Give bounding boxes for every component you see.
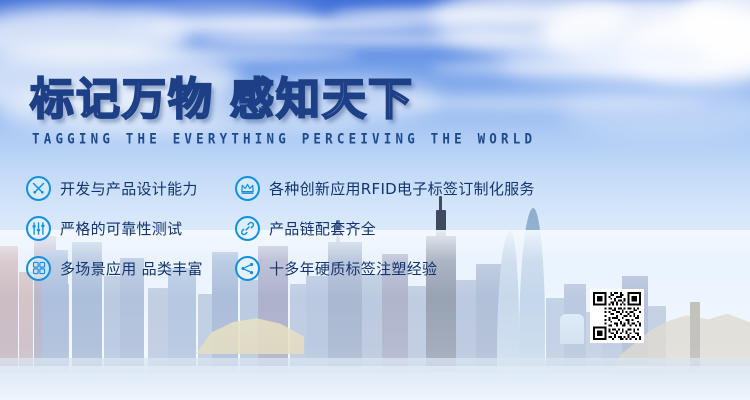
crown-icon xyxy=(235,176,260,201)
feature-item-rfid-service[interactable]: 各种创新应用RFID电子标签订制化服务 xyxy=(235,168,715,208)
feature-label: 开发与产品设计能力 xyxy=(60,178,198,199)
link-icon xyxy=(235,216,260,241)
qr-code-image xyxy=(593,292,641,340)
qr-code[interactable] xyxy=(590,289,644,343)
feature-label: 多场景应用 品类丰富 xyxy=(60,258,203,279)
feature-item-scenarios[interactable]: 多场景应用 品类丰富 xyxy=(26,248,231,288)
sliders-icon xyxy=(26,216,51,241)
waterfront xyxy=(0,366,750,400)
tools-icon xyxy=(26,176,51,201)
page-subtitle: TAGGING THE EVERYTHING PERCEIVING THE WO… xyxy=(32,130,536,147)
grid-icon xyxy=(26,256,51,281)
feature-column-right: 各种创新应用RFID电子标签订制化服务 产品链配套齐全 xyxy=(235,168,715,288)
page-title: 标记万物感知天下 xyxy=(30,74,414,126)
feature-item-development[interactable]: 开发与产品设计能力 xyxy=(26,168,231,208)
feature-label: 各种创新应用RFID电子标签订制化服务 xyxy=(269,178,535,199)
headline-part-1: 标记万物 xyxy=(30,74,214,125)
feature-item-reliability[interactable]: 严格的可靠性测试 xyxy=(26,208,231,248)
feature-label: 产品链配套齐全 xyxy=(269,218,376,239)
feature-item-supply-chain[interactable]: 产品链配套齐全 xyxy=(235,208,715,248)
share-icon xyxy=(235,256,260,281)
feature-label: 严格的可靠性测试 xyxy=(60,218,182,239)
feature-item-experience[interactable]: 十多年硬质标签注塑经验 xyxy=(235,248,715,288)
feature-label: 十多年硬质标签注塑经验 xyxy=(269,258,437,279)
headline-part-2: 感知天下 xyxy=(230,74,414,125)
feature-column-left: 开发与产品设计能力 严格的可靠性测试 xyxy=(26,168,231,288)
promo-banner: 标记万物感知天下 TAGGING THE EVERYTHING PERCEIVI… xyxy=(0,0,750,400)
